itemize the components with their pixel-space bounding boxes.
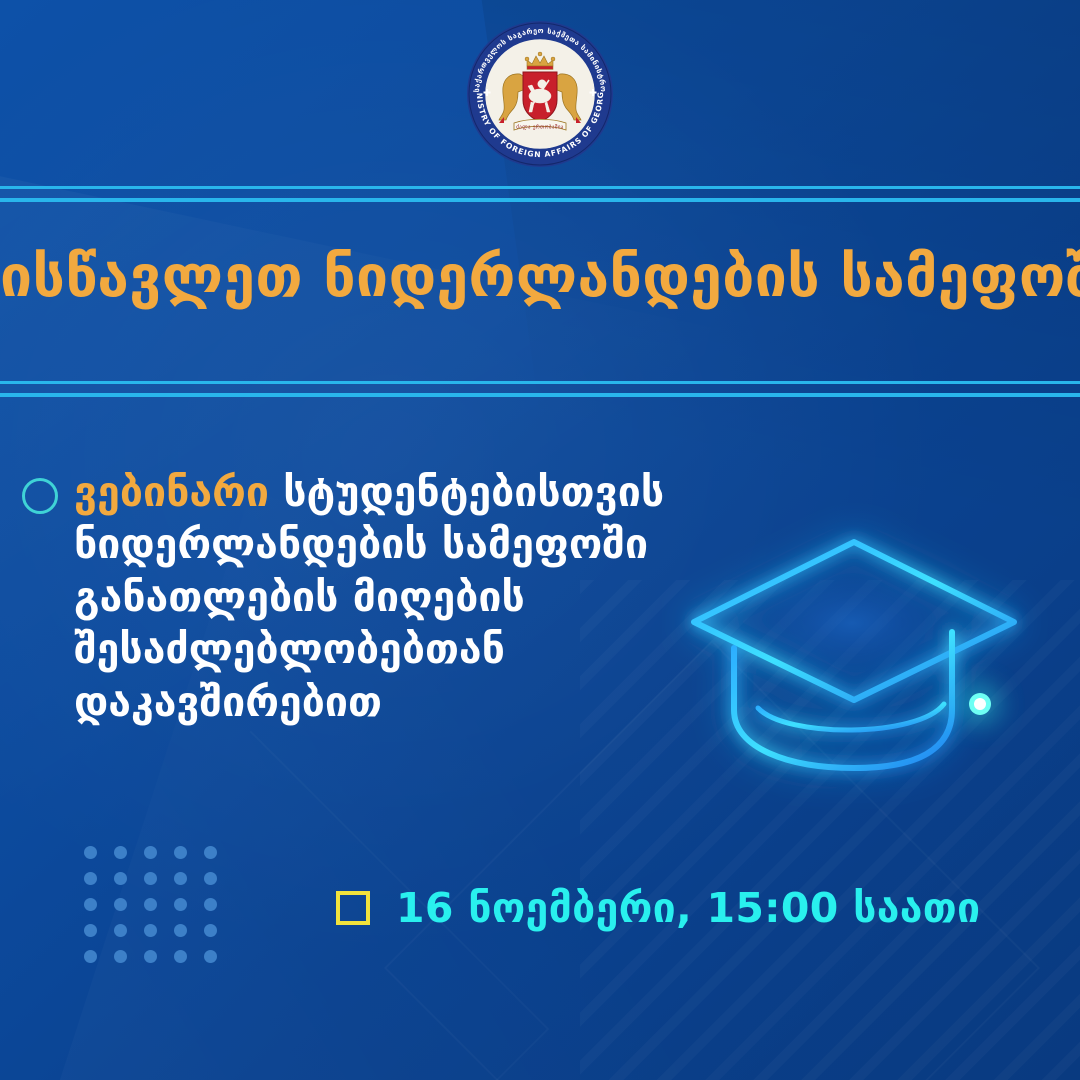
- grid-dot: [144, 872, 157, 885]
- grid-dot: [84, 846, 97, 859]
- grid-dot: [84, 872, 97, 885]
- grid-dot: [114, 872, 127, 885]
- grid-dot: [144, 950, 157, 963]
- divider-bottom: [0, 381, 1080, 397]
- webinar-description-text: ვებინარი სტუდენტებისთვის ნიდერლანდების ს…: [74, 466, 782, 728]
- grid-dot: [174, 924, 187, 937]
- circle-outline-icon: [22, 478, 58, 514]
- grid-dot: [174, 846, 187, 859]
- grid-dot: [144, 898, 157, 911]
- divider-gap: [0, 384, 1080, 393]
- grid-dot: [174, 950, 187, 963]
- grid-dot: [114, 898, 127, 911]
- event-datetime: 16 ნოემბერი, 15:00 საათი: [336, 884, 980, 932]
- emblem-container: MINISTRY OF FOREIGN AFFAIRS OF GEORGIA ს…: [0, 20, 1080, 168]
- svg-text:ძალა ერთობაშია: ძალა ერთობაშია: [516, 124, 564, 131]
- ministry-of-foreign-affairs-of-georgia-emblem: MINISTRY OF FOREIGN AFFAIRS OF GEORGIA ს…: [466, 20, 614, 168]
- grid-dot: [204, 872, 217, 885]
- grid-dot: [144, 846, 157, 859]
- dot-grid-decoration: [84, 846, 234, 976]
- grid-dot: [84, 950, 97, 963]
- grid-dot: [174, 898, 187, 911]
- grid-dot: [204, 950, 217, 963]
- divider-line: [0, 393, 1080, 397]
- divider-top: [0, 186, 1080, 202]
- grid-dot: [114, 924, 127, 937]
- highlight-word: ვებინარი: [74, 468, 269, 516]
- grid-dot: [144, 924, 157, 937]
- poster-canvas: MINISTRY OF FOREIGN AFFAIRS OF GEORGIA ს…: [0, 0, 1080, 1080]
- event-datetime-text: 16 ნოემბერი, 15:00 საათი: [396, 884, 980, 932]
- divider-gap: [0, 189, 1080, 198]
- grid-dot: [114, 846, 127, 859]
- divider-line: [0, 198, 1080, 202]
- grid-dot: [174, 872, 187, 885]
- square-outline-icon: [336, 891, 370, 925]
- grid-dot: [204, 846, 217, 859]
- grid-dot: [84, 898, 97, 911]
- grid-dot: [204, 924, 217, 937]
- page-title: ისწავლეთ ნიდერლანდების სამეფოში: [0, 246, 1080, 309]
- grid-dot: [204, 898, 217, 911]
- webinar-description: ვებინარი სტუდენტებისთვის ნიდერლანდების ს…: [22, 466, 782, 728]
- grid-dot: [84, 924, 97, 937]
- grid-dot: [114, 950, 127, 963]
